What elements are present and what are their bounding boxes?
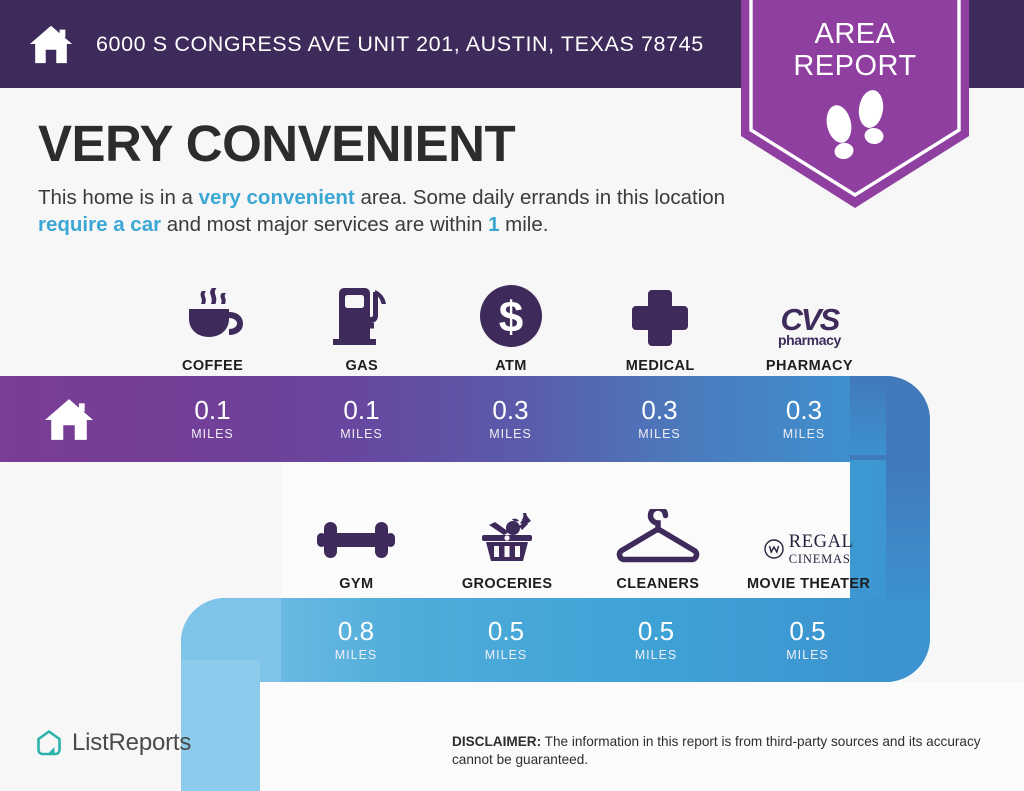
svg-text:$: $	[499, 293, 523, 342]
distance-cell-gym: 0.8 MILES	[281, 598, 431, 682]
category-label: ATM	[495, 358, 527, 374]
row2-category-icons: GYM	[281, 492, 884, 592]
category-label: CLEANERS	[616, 576, 699, 592]
intro-part-2: area. Some daily errands in this locatio…	[355, 186, 725, 209]
distance-unit: MILES	[786, 648, 829, 662]
distance-value: 0.3	[641, 397, 677, 423]
row1-distance-bar: 0.1 MILES 0.1 MILES 0.3 MILES 0.3 MILES …	[0, 376, 884, 462]
intro-part-5: 1	[488, 213, 499, 236]
page-title: VERY CONVENIENT	[38, 118, 515, 169]
regal-emblem-icon	[764, 539, 784, 559]
medical-cross-icon	[631, 281, 689, 347]
distance-cell-groceries: 0.5 MILES	[431, 598, 581, 682]
cvs-pharmacy-logo: CVS pharmacy	[778, 281, 841, 347]
regal-cinemas-logo: REGAL CINEMAS	[764, 499, 854, 565]
distance-unit: MILES	[638, 427, 681, 441]
distance-unit: MILES	[783, 427, 826, 441]
area-report-infographic: 6000 S CONGRESS AVE UNIT 201, AUSTIN, TE…	[0, 0, 1024, 791]
brand-name: ListReports	[72, 729, 191, 757]
category-coffee: COFFEE	[138, 268, 287, 374]
listreports-house-icon	[36, 729, 62, 757]
category-pharmacy: CVS pharmacy PHARMACY	[735, 268, 884, 374]
intro-part-0: This home is in a	[38, 186, 199, 209]
category-cleaners: CLEANERS	[583, 492, 734, 592]
bar2-left-cap	[181, 598, 281, 682]
category-medical: MEDICAL	[586, 268, 735, 374]
category-label: GROCERIES	[462, 576, 553, 592]
distance-cell-cleaners: 0.5 MILES	[581, 598, 731, 682]
category-label: MEDICAL	[626, 358, 695, 374]
intro-part-4: and most major services are within	[161, 213, 488, 236]
category-label: GYM	[339, 576, 373, 592]
distance-value: 0.3	[786, 397, 822, 423]
distance-cell-movie-theater: 0.5 MILES	[731, 598, 884, 682]
badge-pennant-shape	[735, 0, 975, 212]
listreports-brand: ListReports	[36, 729, 191, 757]
category-gas: GAS	[287, 268, 436, 374]
distance-value: 0.5	[638, 618, 674, 644]
regal-wordmark-line1: REGAL	[789, 533, 854, 552]
cvs-subtext: pharmacy	[778, 333, 841, 347]
clothes-hanger-icon	[615, 499, 701, 565]
distance-cell-pharmacy: 0.3 MILES	[734, 376, 874, 462]
distance-cell-gas: 0.1 MILES	[287, 376, 436, 462]
distance-value: 0.5	[789, 618, 825, 644]
disclaimer: DISCLAIMER: The information in this repo…	[452, 733, 1000, 770]
category-gym: GYM	[281, 492, 432, 592]
distance-value: 0.5	[488, 618, 524, 644]
property-address: 6000 S CONGRESS AVE UNIT 201, AUSTIN, TE…	[96, 32, 704, 57]
distance-unit: MILES	[489, 427, 532, 441]
category-label: GAS	[345, 358, 378, 374]
area-report-badge: AREA REPORT	[735, 0, 975, 212]
distance-value: 0.3	[492, 397, 528, 423]
distance-value: 0.8	[338, 618, 374, 644]
house-icon	[28, 21, 74, 67]
distance-unit: MILES	[635, 648, 678, 662]
intro-paragraph: This home is in a very convenient area. …	[38, 184, 728, 239]
distance-value: 0.1	[343, 397, 379, 423]
gas-pump-icon	[333, 281, 391, 347]
category-label: PHARMACY	[766, 358, 853, 374]
category-atm: $ ATM	[436, 268, 585, 374]
category-label: MOVIE THEATER	[747, 576, 870, 592]
distance-cell-atm: 0.3 MILES	[436, 376, 585, 462]
grocery-basket-icon	[476, 499, 538, 565]
category-label: COFFEE	[182, 358, 243, 374]
atm-dollar-icon: $	[480, 281, 542, 347]
intro-part-6: mile.	[499, 213, 548, 236]
regal-wordmark-line2: CINEMAS	[789, 553, 854, 566]
distance-unit: MILES	[335, 648, 378, 662]
distance-unit: MILES	[340, 427, 383, 441]
row1-category-icons: COFFEE GAS $	[138, 268, 884, 374]
home-origin-cell	[0, 376, 138, 462]
cvs-wordmark: CVS	[778, 304, 841, 335]
distance-value: 0.1	[194, 397, 230, 423]
distance-cell-coffee: 0.1 MILES	[138, 376, 287, 462]
distance-unit: MILES	[191, 427, 234, 441]
distance-unit: MILES	[485, 648, 528, 662]
row2-distance-bar: 0.8 MILES 0.5 MILES 0.5 MILES 0.5 MILES	[181, 598, 884, 682]
intro-part-1: very convenient	[199, 186, 355, 209]
category-groceries: GROCERIES	[432, 492, 583, 592]
coffee-cup-icon	[181, 281, 245, 347]
disclaimer-label: DISCLAIMER:	[452, 734, 541, 749]
distance-cell-medical: 0.3 MILES	[585, 376, 734, 462]
intro-part-3: require a car	[38, 213, 161, 236]
category-movie-theater: REGAL CINEMAS MOVIE THEATER	[733, 492, 884, 592]
dumbbell-icon	[317, 499, 395, 565]
house-icon	[43, 396, 95, 442]
